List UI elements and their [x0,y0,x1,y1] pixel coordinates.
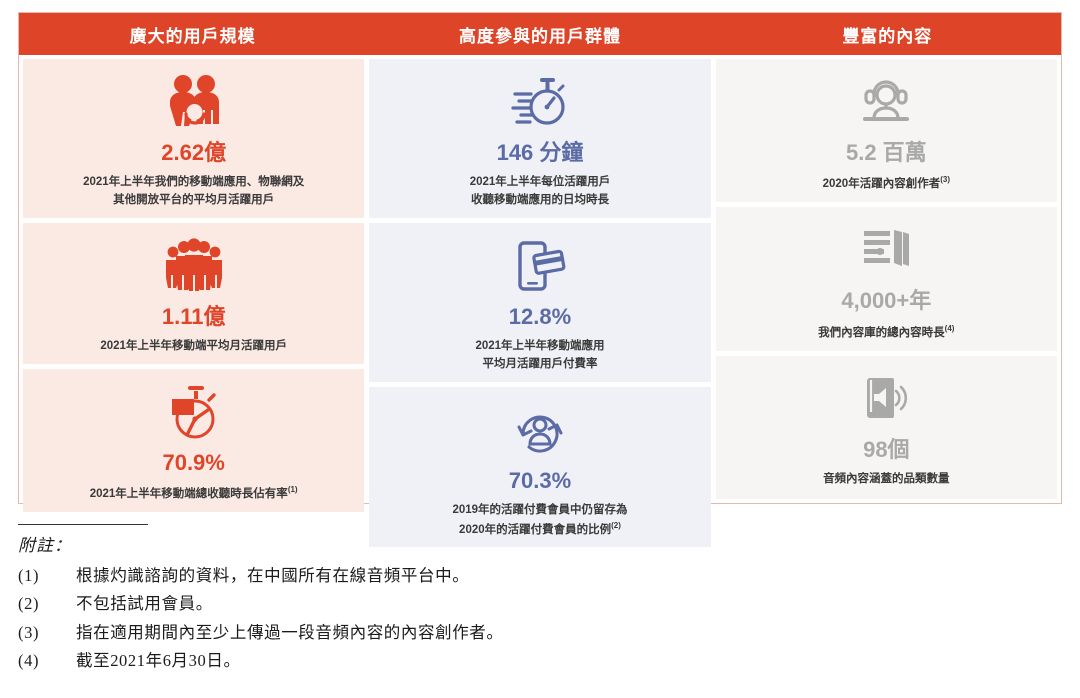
header-column-user-engagement: 高度參與的用戶群體 [366,13,713,55]
audio-library-books-icon [858,219,914,281]
user-retention-cycle-icon [511,399,569,461]
header-column-rich-content: 豐富的內容 [714,13,1061,55]
metric-description-text: 2020年活躍內容創作者 [823,178,941,190]
metric-value: 146 分鐘 [497,141,584,165]
footnote-text: 不包括試用會員。 [76,590,1058,618]
metric-description: 2020年活躍內容創作者(3) [823,174,950,194]
stopwatch-speed-icon [509,71,571,133]
metric-cell-creators: 5.2 百萬 2020年活躍內容創作者(3) [716,59,1057,202]
metric-cell-listening-share: 70.9% 2021年上半年移動端總收聽時長佔有率(1) [23,369,364,512]
footnote-number: (1) [18,562,76,590]
footnote-text: 根據灼識諮詢的資料，在中國所有在線音頻平台中。 [76,562,1058,590]
header-title-2: 高度參與的用戶群體 [459,22,621,47]
metric-cell-mobile-mau: 1.11億 2021年上半年移動端平均月活躍用戶 [23,223,364,364]
metric-value: 5.2 百萬 [846,141,927,165]
footnotes-section: 附註： (1) 根據灼識諮詢的資料，在中國所有在線音頻平台中。 (2) 不包括試… [18,524,1058,676]
metric-value: 98個 [863,438,909,462]
metric-description-text: 2021年上半年移動端總收聽時長佔有率 [90,488,288,500]
metric-value: 4,000+年 [841,289,931,313]
metric-value: 2.62億 [161,141,226,165]
creator-headset-mic-icon [857,71,915,133]
footnote-marker: (4) [945,324,955,333]
metric-description: 2021年上半年移動端總收聽時長佔有率(1) [90,484,298,504]
header-title-1: 廣大的用戶規模 [130,22,256,47]
metrics-panel: 廣大的用戶規模 高度參與的用戶群體 豐富的內容 [18,12,1062,504]
footnote-item: (1) 根據灼識諮詢的資料，在中國所有在線音頻平台中。 [18,562,1058,590]
infographic-page: 廣大的用戶規模 高度參與的用戶群體 豐富的內容 [0,0,1080,698]
metric-description: 音頻內容涵蓋的品類數量 [823,471,950,489]
column-user-engagement: 146 分鐘 2021年上半年每位活躍用戶 收聽移動端應用的日均時長 [369,59,710,499]
footnote-number: (4) [18,647,76,675]
footnote-marker: (1) [288,485,298,494]
metric-description-text: 我們內容庫的總內容時長 [818,326,945,338]
header-column-user-scale: 廣大的用戶規模 [19,13,366,55]
metric-value: 70.3% [509,469,571,493]
footnote-text: 指在適用期間內至少上傳過一段音頻內容的內容創作者。 [76,619,1058,647]
column-user-scale: 2.62億 2021年上半年我們的移動端應用、物聯網及 其他開放平台的平均月活躍… [23,59,364,499]
metric-description: 我們內容庫的總內容時長(4) [818,323,954,343]
metrics-grid: 2.62億 2021年上半年我們的移動端應用、物聯網及 其他開放平台的平均月活躍… [19,55,1061,503]
footnotes-title: 附註： [18,531,1058,556]
footnote-number: (2) [18,590,76,618]
phone-payment-card-icon [511,235,569,297]
metric-description: 2021年上半年移動端平均月活躍用戶 [100,338,287,356]
footnote-item: (4) 截至2021年6月30日。 [18,647,1058,675]
metric-cell-paying-ratio: 12.8% 2021年上半年移動端應用 平均月活躍用戶付費率 [369,223,710,382]
metric-cell-daily-minutes: 146 分鐘 2021年上半年每位活躍用戶 收聽移動端應用的日均時長 [369,59,710,218]
audiobook-speaker-icon [858,368,914,430]
footnote-text: 截至2021年6月30日。 [76,647,1058,675]
footnote-number: (3) [18,619,76,647]
panel-header: 廣大的用戶規模 高度參與的用戶群體 豐富的內容 [19,13,1061,55]
crowd-of-people-icon [164,235,224,297]
metric-description: 2021年上半年移動端應用 平均月活躍用戶付費率 [475,338,604,374]
metric-description: 2021年上半年我們的移動端應用、物聯網及 其他開放平台的平均月活躍用戶 [83,174,304,210]
column-rich-content: 5.2 百萬 2020年活躍內容創作者(3) [716,59,1057,499]
stopwatch-pie-share-icon [164,381,224,443]
metric-value: 1.11億 [162,305,226,329]
metric-description: 2021年上半年每位活躍用戶 收聽移動端應用的日均時長 [470,174,611,210]
metric-cell-content-hours: 4,000+年 我們內容庫的總內容時長(4) [716,207,1057,350]
metric-value: 12.8% [509,305,571,329]
footnotes-divider [18,524,148,525]
metric-value: 70.9% [162,451,224,475]
footnote-item: (2) 不包括試用會員。 [18,590,1058,618]
footnote-item: (3) 指在適用期間內至少上傳過一段音頻內容的內容創作者。 [18,619,1058,647]
header-title-3: 豐富的內容 [842,22,932,47]
footnote-marker: (3) [940,175,950,184]
two-people-icon [164,71,224,133]
metric-cell-categories: 98個 音頻內容涵蓋的品類數量 [716,356,1057,499]
metric-cell-mau-total: 2.62億 2021年上半年我們的移動端應用、物聯網及 其他開放平台的平均月活躍… [23,59,364,218]
